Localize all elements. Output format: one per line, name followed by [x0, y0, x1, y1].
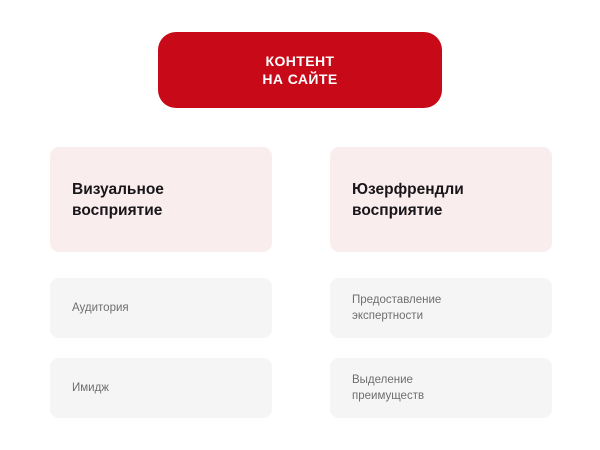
root-node[interactable]: КОНТЕНТ НА САЙТЕ	[158, 32, 442, 108]
branch-column-right: Юзерфрендли восприятие Предоставление эк…	[330, 147, 552, 418]
category-card-userfriendly[interactable]: Юзерфрендли восприятие	[330, 147, 552, 252]
item-card-label: Имидж	[72, 380, 109, 396]
root-node-label: КОНТЕНТ НА САЙТЕ	[262, 52, 337, 88]
item-card-audience[interactable]: Аудитория	[50, 278, 272, 338]
item-card-label: Предоставление экспертности	[352, 292, 441, 324]
diagram-canvas: КОНТЕНТ НА САЙТЕ Визуальное восприятие А…	[0, 0, 600, 450]
category-card-label: Юзерфрендли восприятие	[352, 179, 464, 221]
category-card-visual[interactable]: Визуальное восприятие	[50, 147, 272, 252]
branch-column-left: Визуальное восприятие Аудитория Имидж	[50, 147, 272, 418]
item-card-label: Аудитория	[72, 300, 129, 316]
category-card-label: Визуальное восприятие	[72, 179, 164, 221]
item-card-label: Выделение преимуществ	[352, 372, 424, 404]
item-card-image[interactable]: Имидж	[50, 358, 272, 418]
item-card-expertise[interactable]: Предоставление экспертности	[330, 278, 552, 338]
item-card-advantages[interactable]: Выделение преимуществ	[330, 358, 552, 418]
